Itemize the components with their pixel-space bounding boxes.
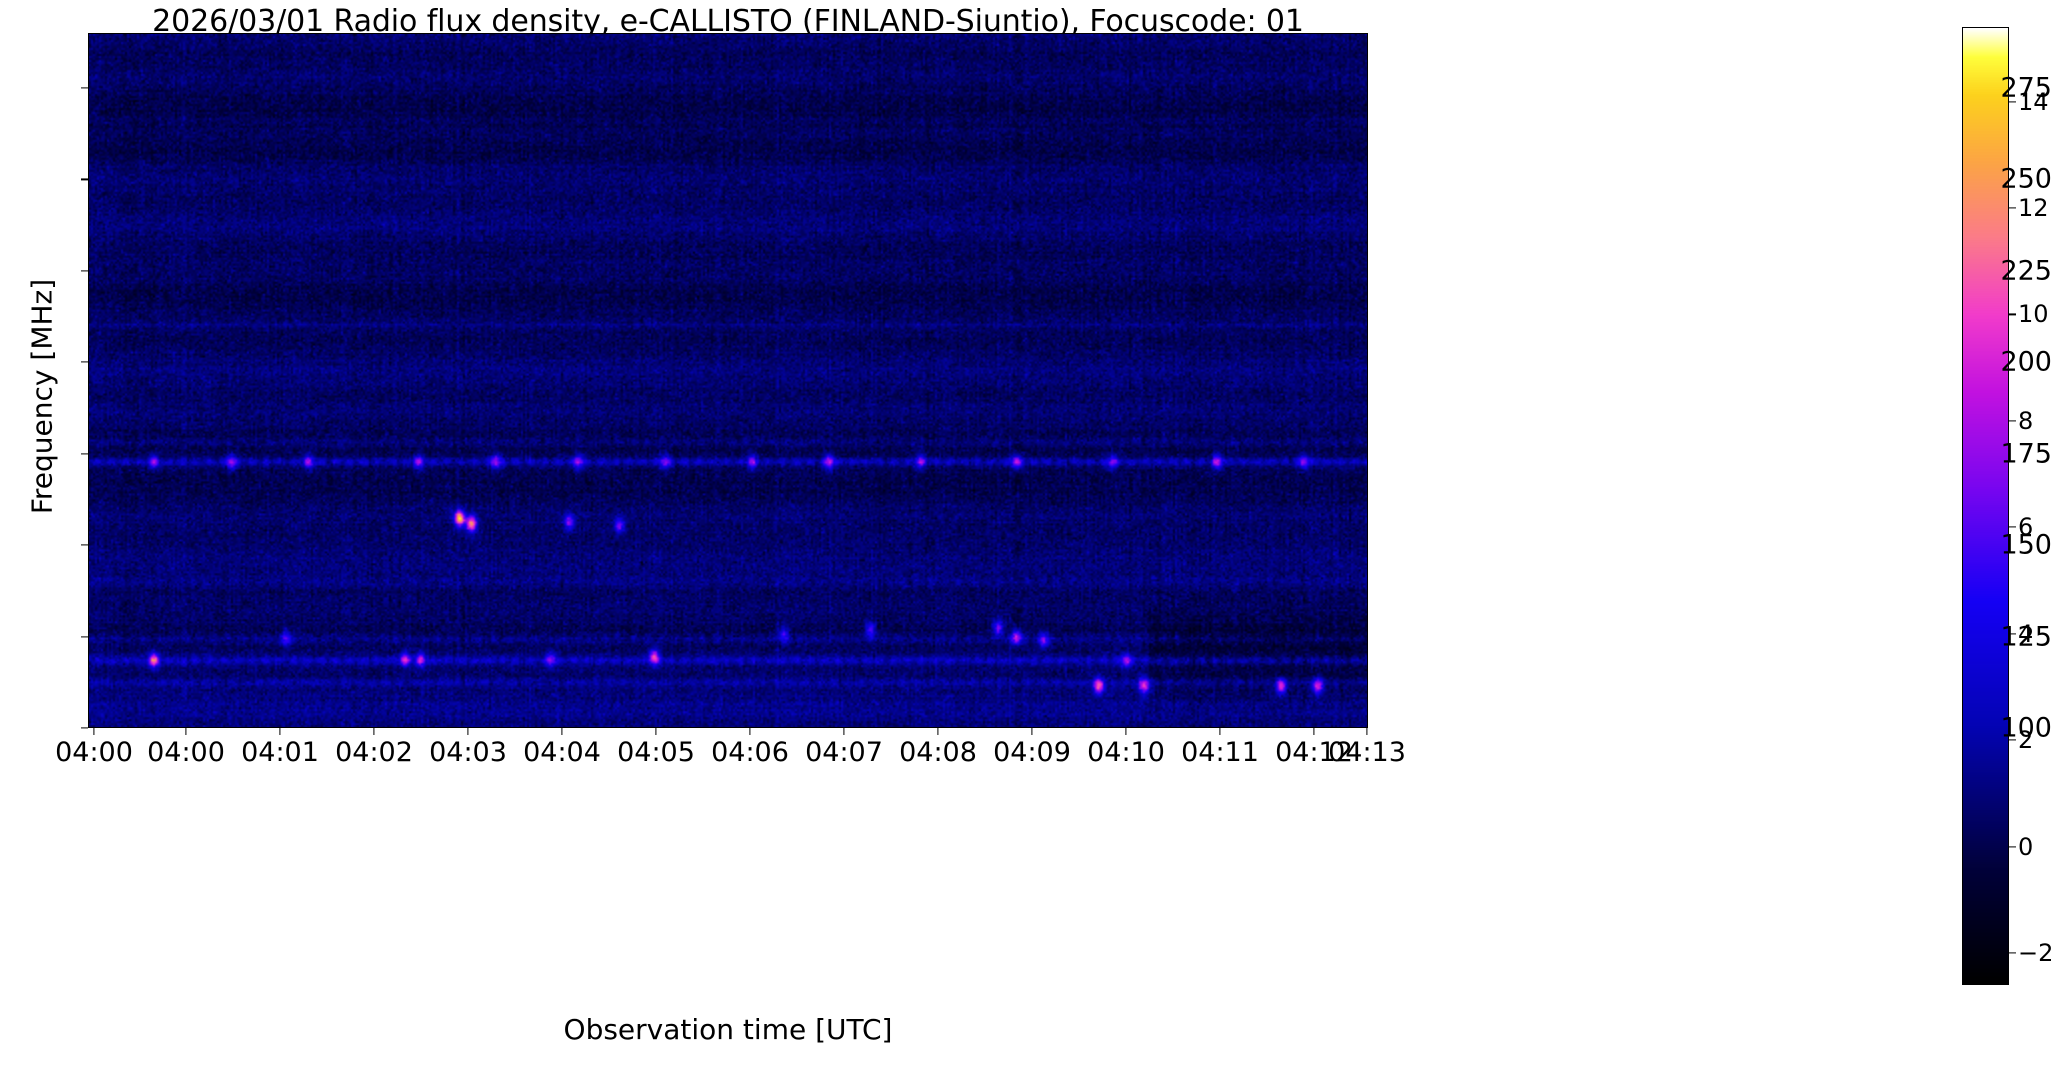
spectrogram-figure: 2026/03/01 Radio flux density, e-CALLIST… [0,0,2066,1067]
x-tick-mark [1031,728,1032,735]
x-tick-label: 04:08 [899,737,977,768]
x-tick-mark [1313,728,1314,735]
colorbar-tick-mark [2009,314,2016,315]
colorbar-tick-mark [2009,527,2016,528]
colorbar-tick-mark [2009,846,2016,847]
colorbar-tick-label: 8 [2018,407,2033,435]
x-tick-label: 04:09 [993,737,1071,768]
x-tick-mark [937,728,938,735]
y-tick-label: 200 [2000,347,2052,378]
y-tick-label: 175 [2000,438,2052,469]
colorbar-tick-mark [2009,420,2016,421]
colorbar-tick-mark [2009,952,2016,953]
x-tick-mark [655,728,656,735]
colorbar-tick-label: 10 [2018,300,2049,328]
x-tick-label: 04:03 [429,737,507,768]
colorbar-tick-label: 4 [2018,620,2033,648]
colorbar-tick-mark [2009,207,2016,208]
x-tick-label: 04:04 [523,737,601,768]
x-tick-label: 04:13 [1328,737,1406,768]
y-tick-mark [81,270,88,271]
x-tick-mark [373,728,374,735]
x-tick-mark [749,728,750,735]
x-tick-mark [467,728,468,735]
y-tick-mark [81,362,88,363]
colorbar-tick-label: 0 [2018,833,2033,861]
y-tick-mark [81,727,88,728]
x-tick-mark [561,728,562,735]
colorbar-tick-mark [2009,633,2016,634]
colorbar-tick-mark [2009,740,2016,741]
spectrogram-image [89,34,1368,728]
x-tick-mark [93,728,94,735]
x-tick-mark [1125,728,1126,735]
colorbar-tick-label: 6 [2018,513,2033,541]
colorbar-tick-label: 14 [2018,88,2049,116]
x-tick-mark [279,728,280,735]
x-tick-mark [1219,728,1220,735]
y-tick-mark [81,545,88,546]
x-tick-label: 04:11 [1181,737,1259,768]
x-tick-label: 04:00 [147,737,225,768]
y-tick-mark [81,179,88,180]
colorbar-tick-label: −2 [2018,939,2053,967]
x-tick-label: 04:05 [617,737,695,768]
y-tick-label: 250 [2000,164,2052,195]
colorbar-tick-label: 2 [2018,726,2033,754]
y-tick-mark [81,87,88,88]
x-tick-label: 04:01 [241,737,319,768]
x-tick-label: 04:06 [711,737,789,768]
colorbar-tick-mark [2009,101,2016,102]
x-tick-mark [185,728,186,735]
colorbar-tick-label: 12 [2018,194,2049,222]
x-tick-mark [843,728,844,735]
y-axis-label: Frequency [MHz] [26,197,59,597]
x-tick-label: 04:02 [335,737,413,768]
y-tick-mark [81,636,88,637]
spectrogram-axes [88,33,1368,728]
x-tick-mark [1366,728,1367,735]
x-axis-label: Observation time [UTC] [88,1013,1368,1046]
x-tick-label: 04:10 [1087,737,1165,768]
y-tick-mark [81,453,88,454]
x-tick-label: 04:00 [55,737,133,768]
y-tick-label: 225 [2000,255,2052,286]
x-tick-label: 04:07 [805,737,883,768]
